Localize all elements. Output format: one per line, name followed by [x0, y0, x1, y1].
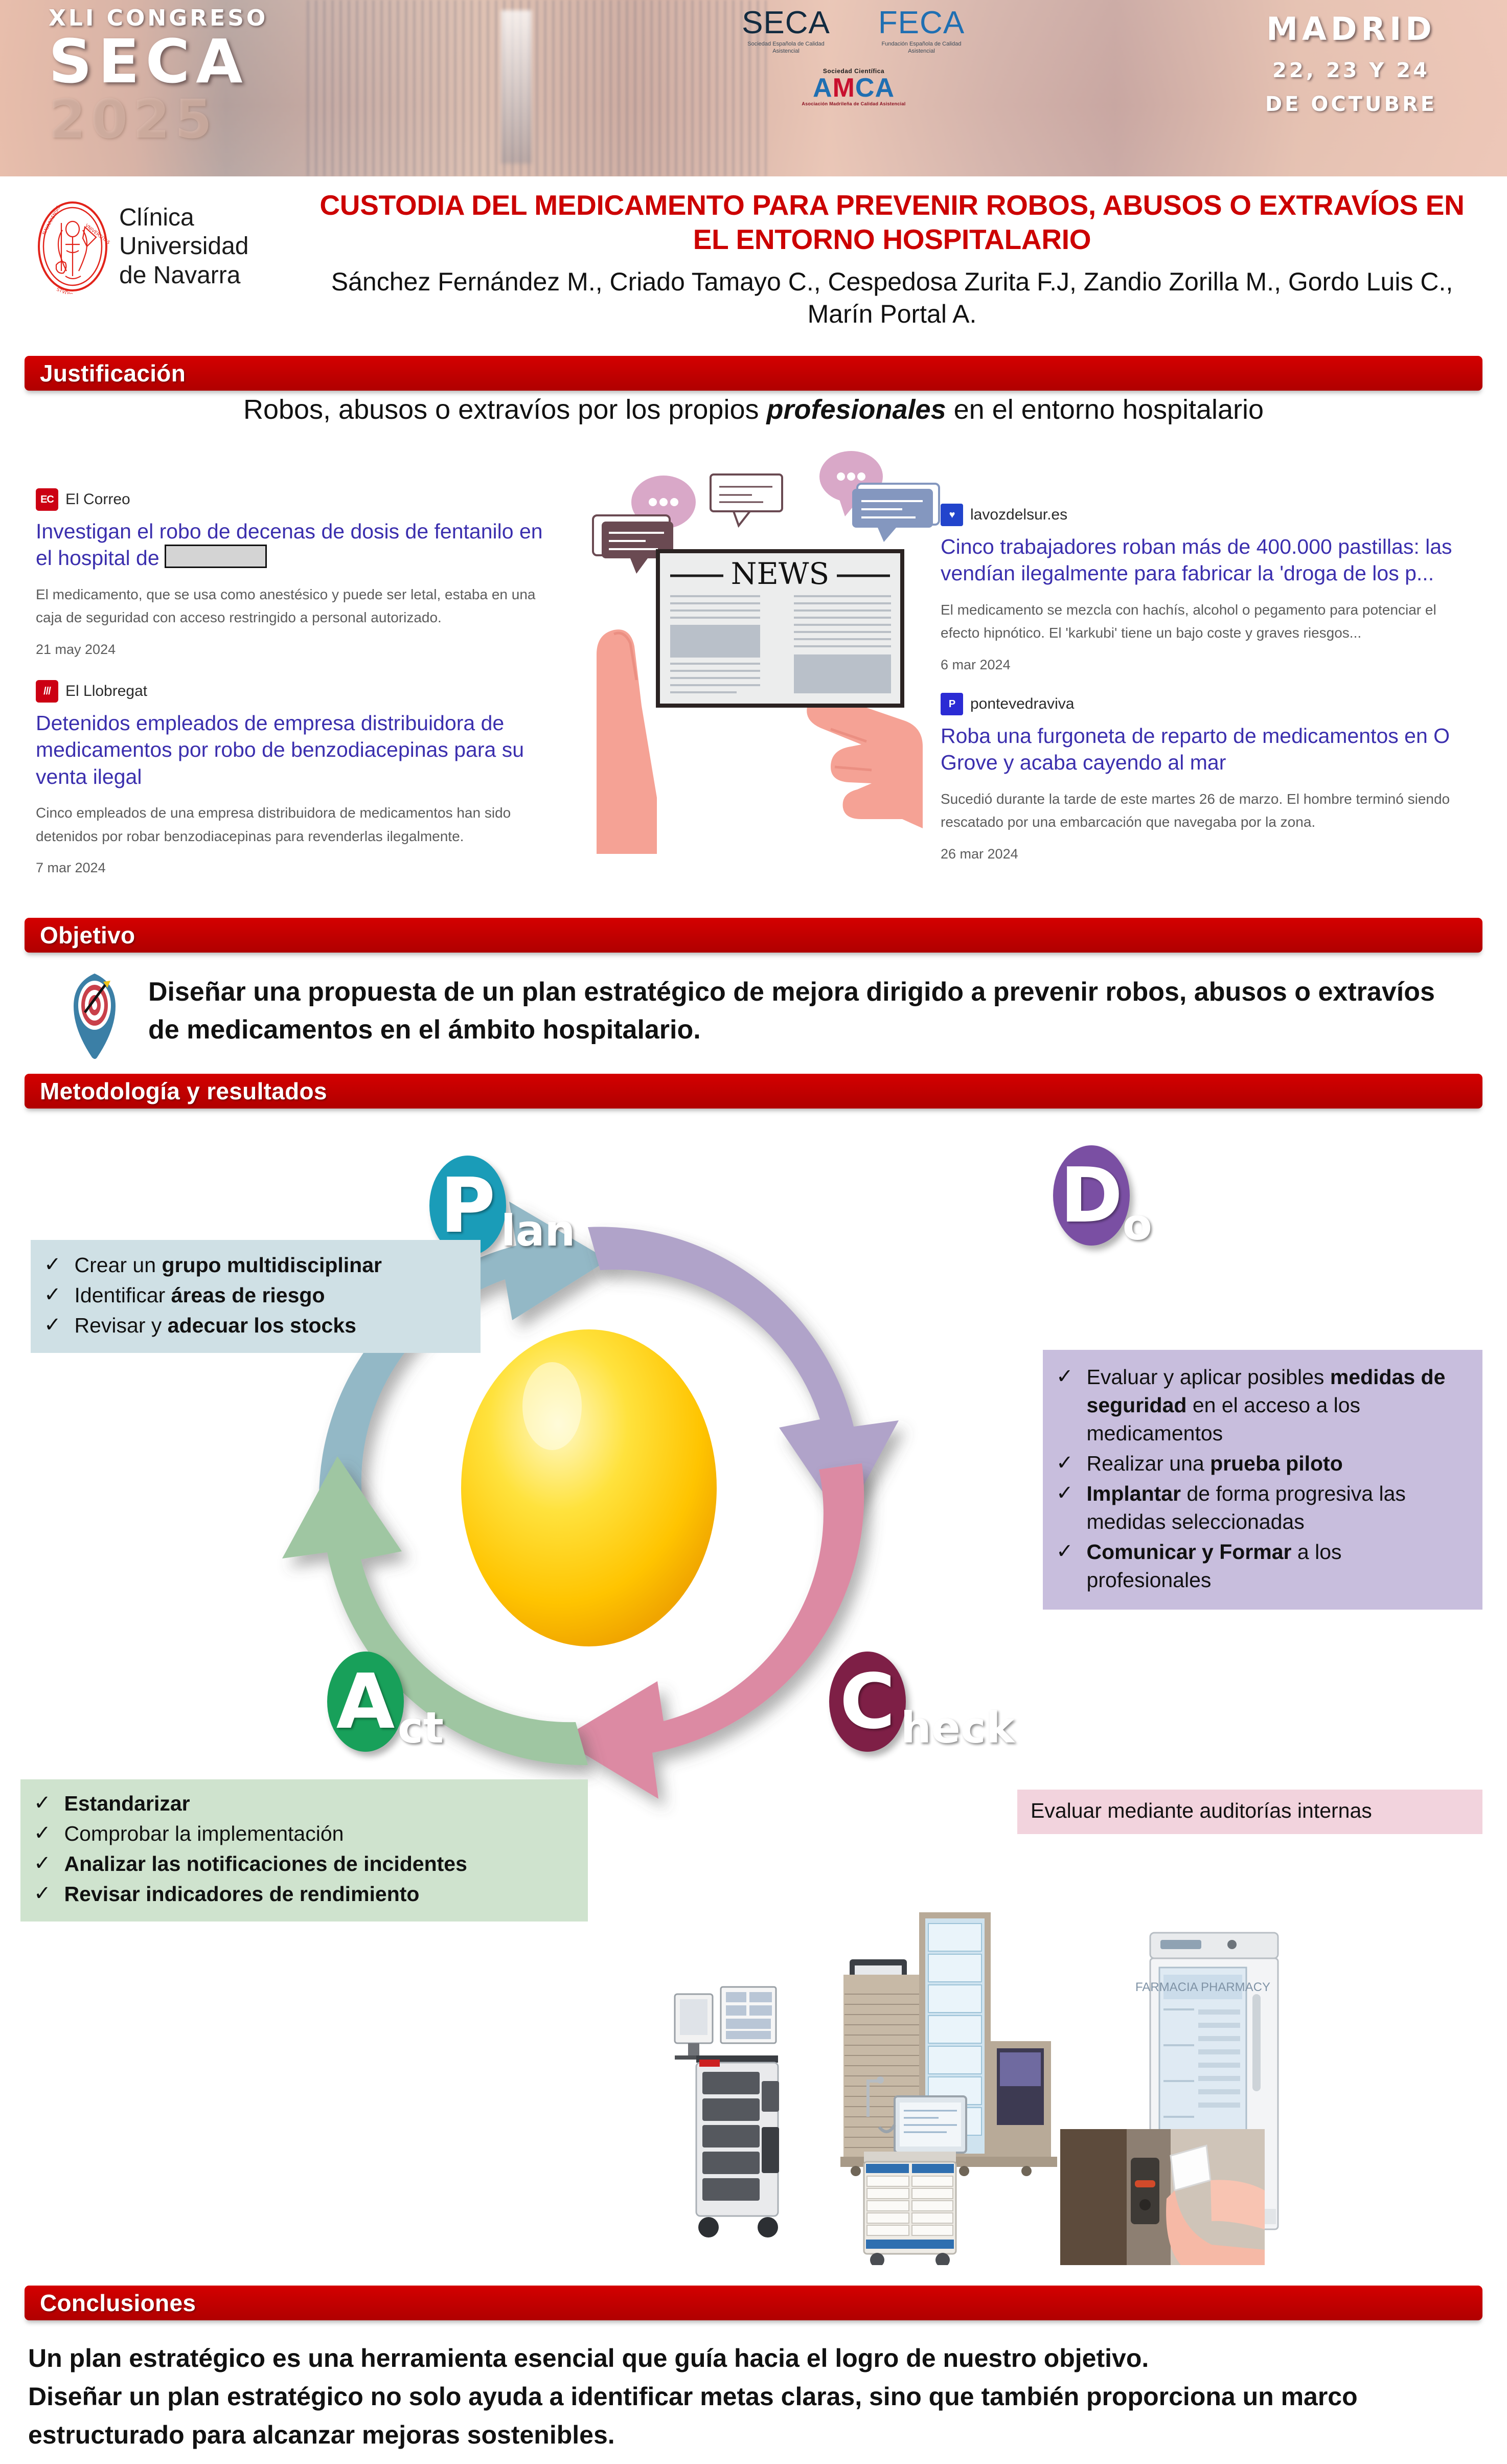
list-item: ✓Comunicar y Formar a los profesionales	[1056, 1538, 1469, 1594]
pdca-label-plan: lan	[501, 1206, 575, 1256]
act-item-bold: Analizar las notificaciones de incidente…	[64, 1852, 467, 1875]
pdca-badge-do-initial: D	[1060, 1151, 1123, 1239]
list-item: ✓Revisar indicadores de rendimiento	[34, 1880, 575, 1908]
plan-item-bold: grupo multidisciplinar	[162, 1253, 382, 1277]
section-header-conclusiones: Conclusiones	[25, 2286, 1482, 2320]
justificacion-lead-post: en el entorno hospitalario	[946, 394, 1264, 425]
pdca-label-act: ct	[398, 1703, 444, 1753]
list-item: ✓Realizar una prueba piloto	[1056, 1450, 1469, 1478]
check-icon: ✓	[34, 1850, 51, 1878]
news-date: 26 mar 2024	[941, 846, 1472, 862]
news-headline: Detenidos empleados de empresa distribui…	[36, 710, 547, 790]
check-icon: ✓	[34, 1790, 51, 1817]
medication-cart-photo	[675, 1987, 779, 2237]
badge-access-reader-photo	[1060, 2129, 1265, 2265]
page-title: CUSTODIA DEL MEDICAMENTO PARA PREVENIR R…	[317, 188, 1467, 257]
do-item-bold: prueba piloto	[1210, 1452, 1343, 1475]
plan-item-pre: Revisar y	[75, 1314, 168, 1337]
newspaper-reading-illustration: NEWS	[565, 440, 953, 864]
act-checklist: ✓Estandarizar ✓Comprobar la implementaci…	[34, 1790, 575, 1908]
news-source-badge-icon: P	[941, 693, 963, 715]
act-item-bold: Revisar indicadores de rendimiento	[64, 1882, 420, 1906]
congress-month: DE OCTUBRE	[1231, 93, 1471, 116]
do-item-pre: Evaluar y aplicar posibles	[1087, 1365, 1330, 1389]
newspaper-icon: NEWS	[656, 549, 904, 708]
title-and-authors: CUSTODIA DEL MEDICAMENTO PARA PREVENIR R…	[317, 188, 1467, 330]
institution-line-1: Clínica	[119, 204, 248, 233]
check-text: Evaluar mediante auditorías internas	[1031, 1797, 1469, 1825]
check-icon: ✓	[44, 1281, 61, 1309]
news-headline: Cinco trabajadores roban más de 400.000 …	[941, 533, 1472, 587]
university-seal-icon: NAVARRENSIS VNIVERSITAS STVDIORVM	[36, 199, 110, 294]
do-item-bold: Implantar	[1087, 1482, 1181, 1505]
conclusion-line-1: Un plan estratégico es una herramienta e…	[28, 2339, 1480, 2378]
pdca-act-items-box: ✓Estandarizar ✓Comprobar la implementaci…	[20, 1779, 588, 1922]
poster-title-area: NAVARRENSIS VNIVERSITAS STVDIORVM Clínic…	[0, 179, 1507, 353]
act-item-bold: Estandarizar	[64, 1792, 190, 1815]
list-item: ✓Crear un grupo multidisciplinar	[44, 1251, 467, 1279]
news-clipping: P pontevedraviva Roba una furgoneta de r…	[941, 693, 1472, 862]
news-source-badge-icon: EC	[36, 488, 58, 511]
section-header-objetivo-label: Objetivo	[25, 921, 135, 949]
list-item: ✓Analizar las notificaciones de incident…	[34, 1850, 575, 1878]
section-header-conclusiones-label: Conclusiones	[25, 2289, 196, 2317]
news-clipping: ♥ lavozdelsur.es Cinco trabajadores roba…	[941, 504, 1472, 673]
list-item: ✓Revisar y adecuar los stocks	[44, 1312, 467, 1340]
objetivo-text: Diseñar una propuesta de un plan estraté…	[148, 966, 1472, 1049]
congress-name: SECA	[49, 31, 335, 92]
congress-dates: 22, 23 Y 24	[1231, 59, 1471, 82]
hand-left-icon	[597, 629, 657, 854]
sphere-highlight	[522, 1362, 582, 1450]
section-header-justificacion: Justificación	[25, 356, 1482, 391]
check-icon: ✓	[1056, 1538, 1074, 1566]
institution-line-2: Universidad	[119, 232, 248, 261]
institution-line-3: de Navarra	[119, 261, 248, 290]
medication-security-equipment-collage: FARMACIA PHARMACY	[639, 1841, 1507, 2265]
list-item: ✓Comprobar la implementación	[34, 1820, 575, 1848]
plan-item-pre: Identificar	[75, 1283, 171, 1307]
seca-logo-acronym: SECA	[741, 7, 831, 39]
check-icon: ✓	[44, 1251, 61, 1279]
congress-year: 2025	[49, 92, 335, 147]
speech-bubble-icon	[711, 474, 782, 526]
justificacion-lead-pre: Robos, abusos o extravíos por los propio…	[243, 394, 767, 425]
news-date: 7 mar 2024	[36, 860, 547, 876]
hand-right-icon	[807, 694, 923, 854]
seca-logo: SECA Sociedad Española de Calidad Asiste…	[741, 7, 831, 55]
act-item-pre: Comprobar la implementación	[64, 1822, 344, 1845]
do-item-bold: Comunicar y Formar	[1087, 1540, 1292, 1564]
section-header-metodologia-label: Metodología y resultados	[25, 1077, 327, 1105]
pdca-label-check: heck	[901, 1703, 1014, 1753]
congress-header-banner: XLI CONGRESO SECA 2025 SECA Sociedad Esp…	[0, 0, 1507, 176]
news-date: 21 may 2024	[36, 642, 547, 658]
justificacion-lead-emphasis: profesionales	[767, 394, 946, 425]
check-icon: ✓	[1056, 1480, 1074, 1507]
news-source: ♥ lavozdelsur.es	[941, 504, 1472, 526]
clinica-universidad-navarra-logo: NAVARRENSIS VNIVERSITAS STVDIORVM Clínic…	[36, 199, 291, 294]
check-icon: ✓	[1056, 1363, 1074, 1391]
justificacion-lead: Robos, abusos o extravíos por los propio…	[0, 394, 1507, 425]
author-list: Sánchez Fernández M., Criado Tamayo C., …	[317, 266, 1467, 330]
news-source-name: pontevedraviva	[970, 695, 1074, 713]
plan-item-bold: adecuar los stocks	[168, 1314, 356, 1337]
newspaper-masthead: NEWS	[731, 556, 829, 591]
section-header-objetivo: Objetivo	[25, 918, 1482, 953]
pdca-label-do: o	[1123, 1200, 1152, 1250]
congress-venue-dates: MADRID 22, 23 Y 24 DE OCTUBRE	[1231, 10, 1471, 116]
news-source-badge-icon: ///	[36, 680, 58, 703]
news-body: El medicamento, que se usa como anestési…	[36, 583, 547, 629]
target-dart-icon	[61, 969, 128, 1061]
congress-identity: XLI CONGRESO SECA 2025	[49, 5, 335, 147]
news-clipping: EC El Correo Investigan el robo de decen…	[36, 488, 547, 658]
congress-city: MADRID	[1231, 10, 1471, 48]
news-source-name: lavozdelsur.es	[970, 506, 1067, 524]
news-body: Cinco empleados de una empresa distribui…	[36, 801, 547, 848]
amca-logo-acronym: AMCA	[705, 75, 1002, 101]
pdca-badge-check: C	[829, 1652, 906, 1752]
feca-logo-acronym: FECA	[877, 7, 966, 39]
do-checklist: ✓Evaluar y aplicar posibles medidas de s…	[1056, 1363, 1469, 1594]
list-item: ✓Estandarizar	[34, 1790, 575, 1818]
news-source: EC El Correo	[36, 488, 547, 511]
pdca-do-items-box: ✓Evaluar y aplicar posibles medidas de s…	[1043, 1350, 1482, 1610]
news-source-badge-icon: ♥	[941, 504, 963, 526]
pdca-badge-do: D	[1053, 1145, 1130, 1246]
speech-bubble-icon	[852, 484, 939, 542]
seca-logo-subtitle: Sociedad Española de Calidad Asistencial	[741, 41, 831, 55]
conclusiones-content: Un plan estratégico es una herramienta e…	[28, 2339, 1480, 2454]
check-icon: ✓	[1056, 1450, 1074, 1477]
pdca-plan-items-box: ✓Crear un grupo multidisciplinar ✓Identi…	[31, 1240, 481, 1353]
institution-name: Clínica Universidad de Navarra	[119, 204, 248, 290]
section-header-justificacion-label: Justificación	[25, 359, 186, 387]
amca-logo-subtitle: Asociación Madrileña de Calidad Asistenc…	[705, 101, 1002, 106]
pdca-badge-check-initial: C	[840, 1658, 896, 1746]
news-date: 6 mar 2024	[941, 657, 1472, 673]
list-item: ✓Implantar de forma progresiva las medid…	[1056, 1480, 1469, 1536]
news-source-name: El Correo	[65, 491, 130, 508]
news-headline: Investigan el robo de decenas de dosis d…	[36, 518, 547, 572]
news-body: El medicamento se mezcla con hachís, alc…	[941, 598, 1472, 645]
pdca-check-items-box: Evaluar mediante auditorías internas	[1017, 1790, 1482, 1834]
amca-logo: Sociedad Científica AMCA Asociación Madr…	[705, 67, 1002, 106]
pdca-badge-act: A	[327, 1652, 404, 1752]
section-header-metodologia: Metodología y resultados	[25, 1074, 1482, 1109]
feca-logo-subtitle: Fundación Española de Calidad Asistencia…	[877, 41, 966, 55]
news-source: /// El Llobregat	[36, 680, 547, 703]
list-item: ✓Identificar áreas de riesgo	[44, 1281, 467, 1309]
objetivo-content: Diseñar una propuesta de un plan estraté…	[61, 966, 1472, 1061]
do-item-pre: Realizar una	[1087, 1452, 1211, 1475]
pdca-badge-plan-initial: P	[440, 1162, 495, 1250]
check-icon: ✓	[44, 1312, 61, 1339]
conclusion-line-2: Diseñar un plan estratégico no solo ayud…	[28, 2378, 1480, 2454]
plan-item-bold: áreas de riesgo	[171, 1283, 325, 1307]
plan-item-pre: Crear un	[75, 1253, 162, 1277]
organizer-logos: SECA Sociedad Española de Calidad Asiste…	[705, 7, 1002, 171]
pdca-badge-act-initial: A	[336, 1658, 395, 1746]
refrigerator-label: FARMACIA PHARMACY	[1135, 1980, 1270, 1994]
news-source-name: El Llobregat	[65, 683, 147, 700]
plan-checklist: ✓Crear un grupo multidisciplinar ✓Identi…	[44, 1251, 467, 1340]
feca-logo: FECA Fundación Española de Calidad Asist…	[877, 7, 966, 55]
list-item: ✓Evaluar y aplicar posibles medidas de s…	[1056, 1363, 1469, 1448]
news-headline-text: Investigan el robo de decenas de dosis d…	[36, 519, 543, 570]
check-icon: ✓	[34, 1880, 51, 1908]
news-redaction-box	[165, 545, 267, 568]
news-headline: Roba una furgoneta de reparto de medicam…	[941, 722, 1472, 776]
news-clipping: /// El Llobregat Detenidos empleados de …	[36, 680, 547, 876]
check-icon: ✓	[34, 1820, 51, 1847]
pdca-center-sphere	[461, 1329, 717, 1646]
news-body: Sucedió durante la tarde de este martes …	[941, 787, 1472, 834]
news-source: P pontevedraviva	[941, 693, 1472, 715]
